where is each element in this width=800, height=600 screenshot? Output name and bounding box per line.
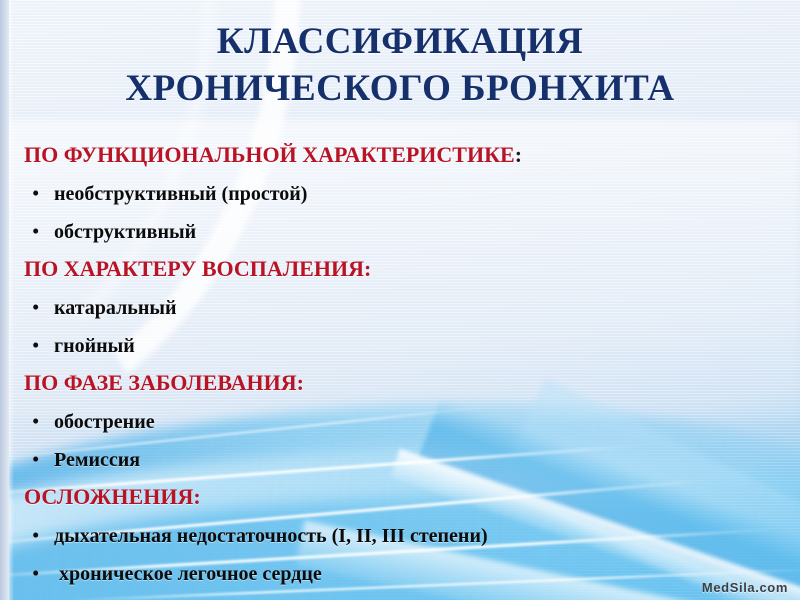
presentation-slide: КЛАССИФИКАЦИЯ ХРОНИЧЕСКОГО БРОНХИТА ПО Ф…	[0, 0, 800, 600]
list-item-label: катаральный	[54, 289, 177, 327]
list-item: • Ремиссия	[24, 440, 784, 478]
section-heading-functional: ПО ФУНКЦИОНАЛЬНОЙ ХАРАКТЕРИСТИКЕ:	[24, 136, 784, 174]
watermark: MedSila.com	[702, 580, 788, 595]
list-item-label: гнойный	[54, 327, 135, 365]
list-item: • обострение	[24, 402, 784, 440]
section-heading-functional-text: ПО ФУНКЦИОНАЛЬНОЙ ХАРАКТЕРИСТИКЕ	[24, 142, 515, 167]
list-item: • дыхательная недостаточность (I, II, II…	[24, 516, 784, 554]
section-heading-complications-text: ОСЛОЖНЕНИЯ:	[24, 484, 201, 509]
list-item-label: обструктивный	[54, 213, 196, 251]
bullet-icon: •	[24, 174, 54, 212]
list-item: • гнойный	[24, 326, 784, 364]
bullet-icon: •	[24, 288, 54, 326]
section-heading-complications: ОСЛОЖНЕНИЯ:	[24, 478, 784, 516]
section-heading-phase: ПО ФАЗЕ ЗАБОЛЕВАНИЯ:	[24, 364, 784, 402]
bullet-icon: •	[24, 402, 54, 440]
list-item: • обструктивный	[24, 212, 784, 250]
list-item-label: дыхательная недостаточность (I, II, III …	[54, 517, 488, 555]
bullet-icon: •	[24, 516, 54, 554]
list-item-label: необструктивный (простой)	[54, 175, 307, 213]
section-heading-inflammation-text: ПО ХАРАКТЕРУ ВОСПАЛЕНИЯ:	[24, 256, 371, 281]
bullet-icon: •	[24, 554, 54, 592]
list-item: • необструктивный (простой)	[24, 174, 784, 212]
page-title-line-1: КЛАССИФИКАЦИЯ	[0, 18, 800, 65]
section-heading-functional-punct: :	[515, 142, 522, 167]
list-item-label: обострение	[54, 403, 155, 441]
list-item: • катаральный	[24, 288, 784, 326]
bullet-icon: •	[24, 440, 54, 478]
bullet-icon: •	[24, 326, 54, 364]
page-title: КЛАССИФИКАЦИЯ ХРОНИЧЕСКОГО БРОНХИТА	[0, 18, 800, 112]
slide-content: КЛАССИФИКАЦИЯ ХРОНИЧЕСКОГО БРОНХИТА ПО Ф…	[0, 0, 800, 600]
page-title-line-2: ХРОНИЧЕСКОГО БРОНХИТА	[0, 65, 800, 112]
section-heading-phase-text: ПО ФАЗЕ ЗАБОЛЕВАНИЯ:	[24, 370, 304, 395]
section-heading-inflammation: ПО ХАРАКТЕРУ ВОСПАЛЕНИЯ:	[24, 250, 784, 288]
list-item-label: Ремиссия	[54, 441, 140, 479]
list-item: • хроническое легочное сердце	[24, 554, 784, 592]
classification-list: ПО ФУНКЦИОНАЛЬНОЙ ХАРАКТЕРИСТИКЕ: • необ…	[24, 136, 784, 592]
bullet-icon: •	[24, 212, 54, 250]
list-item-label: хроническое легочное сердце	[54, 555, 322, 593]
